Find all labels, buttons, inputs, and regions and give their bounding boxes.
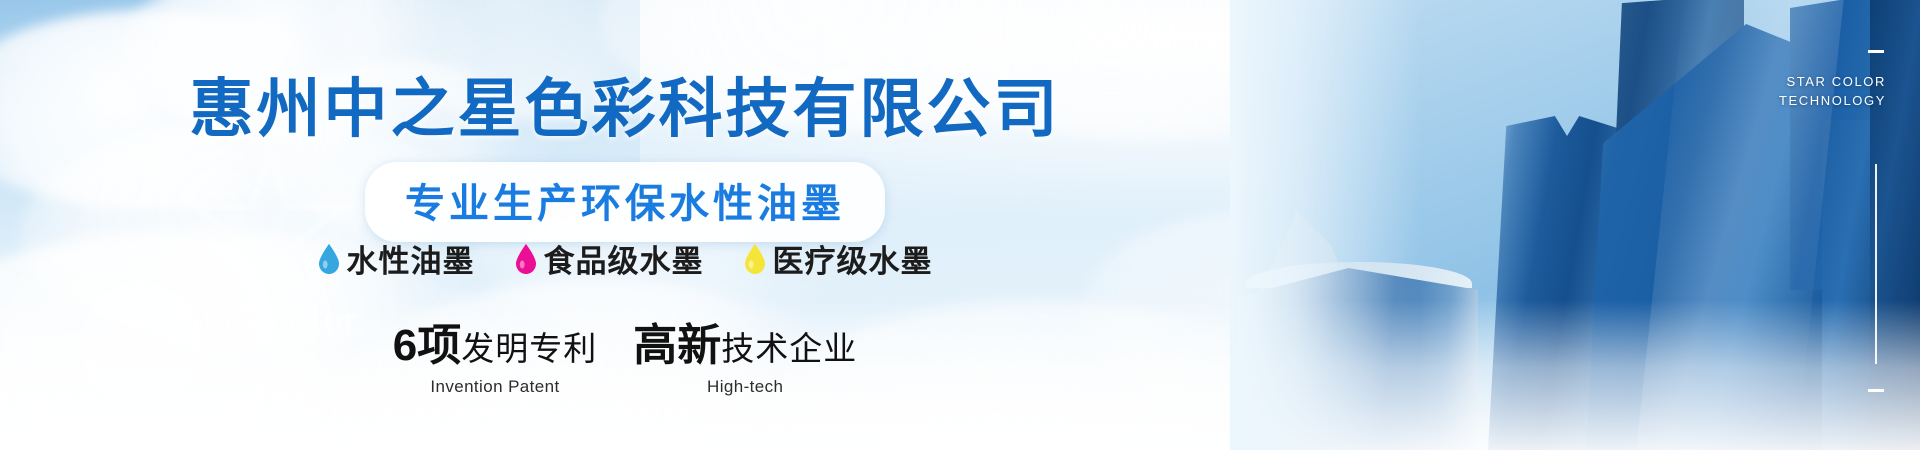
water-drop-icon xyxy=(318,244,340,274)
company-title: 惠州中之星色彩科技有限公司 xyxy=(0,58,1250,150)
banner-content: 惠州中之星色彩科技有限公司 专业生产环保水性油墨 水性油墨食品级水墨医疗级水墨 … xyxy=(0,0,1250,450)
badge-chinese-line: 高新技术企业 xyxy=(633,324,857,368)
credential-badge: 高新技术企业High-tech xyxy=(633,324,857,397)
water-drop-icon xyxy=(515,244,537,274)
badge-chinese-line: 6项发明专利 xyxy=(393,324,597,368)
badge-strong-text: 高新 xyxy=(633,321,721,370)
badge-list: 6项发明专利Invention Patent高新技术企业High-tech xyxy=(0,324,1250,397)
badge-english-text: Invention Patent xyxy=(393,377,597,397)
photo-left-fade xyxy=(1230,0,1420,450)
subtitle-pill-wrapper: 专业生产环保水性油墨 xyxy=(0,162,1250,242)
badge-rest-text: 发明专利 xyxy=(461,330,597,367)
tick-mark-bottom xyxy=(1868,389,1884,392)
hero-banner: Star Color STAR COLOR TECHNOLOGY 惠州中之星色彩… xyxy=(0,0,1920,450)
vertical-rule xyxy=(1875,164,1877,364)
feature-item: 医疗级水墨 xyxy=(744,236,933,281)
badge-strong-text: 6项 xyxy=(393,321,461,370)
subtitle-pill: 专业生产环保水性油墨 xyxy=(365,162,885,242)
feature-list: 水性油墨食品级水墨医疗级水墨 xyxy=(0,236,1250,281)
feature-item: 食品级水墨 xyxy=(515,236,704,281)
water-drop-icon xyxy=(744,244,766,274)
feature-label: 水性油墨 xyxy=(347,236,475,281)
feature-label: 食品级水墨 xyxy=(544,236,704,281)
badge-rest-text: 技术企业 xyxy=(721,330,857,367)
credential-badge: 6项发明专利Invention Patent xyxy=(393,324,597,397)
photo-brand-line1: STAR COLOR xyxy=(1779,72,1886,91)
badge-english-text: High-tech xyxy=(633,377,857,397)
photo-brand-line2: TECHNOLOGY xyxy=(1779,91,1886,110)
tick-mark-top xyxy=(1868,50,1884,53)
photo-brand-label: STAR COLOR TECHNOLOGY xyxy=(1779,72,1886,110)
feature-label: 医疗级水墨 xyxy=(773,236,933,281)
feature-item: 水性油墨 xyxy=(318,236,475,281)
